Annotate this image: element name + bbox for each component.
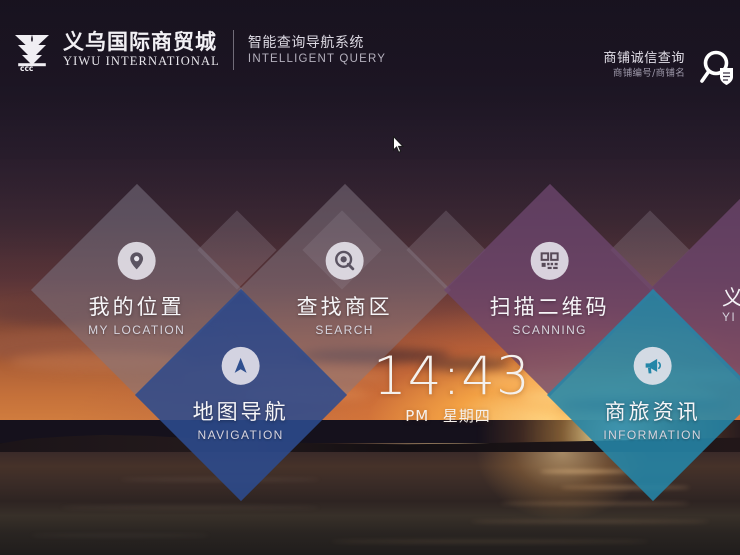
tile-label-cn: 我的位置 [89, 294, 185, 321]
diamond-menu: 我的位置 MY LOCATION 查找商区 SEARCH [0, 0, 740, 555]
tile-label-en: SCANNING [513, 321, 588, 339]
compass-arrow-icon [222, 347, 260, 385]
tile-label-cn: 查找商区 [297, 294, 393, 321]
kiosk-screen: ccc 义乌国际商贸城 YIWU INTERNATIONAL 智能查询导航系统 … [0, 0, 740, 555]
clock-meta: PM 星期四 [373, 405, 523, 427]
clock-time: 14:43 [373, 348, 523, 405]
search-icon [326, 242, 364, 280]
tile-label-cn: 商旅资讯 [605, 399, 701, 426]
tile-partial-label-en: YI [722, 310, 736, 324]
tile-partial-label-cn: 义 [722, 282, 740, 312]
tile-label-en: SEARCH [316, 321, 374, 339]
clock-weekday: 星期四 [443, 407, 491, 425]
tile-label-en: NAVIGATION [198, 426, 284, 444]
qr-code-icon [531, 242, 569, 280]
tile-label-en: MY LOCATION [89, 321, 186, 339]
tile-label-en: INFORMATION [604, 426, 703, 444]
megaphone-icon [634, 347, 672, 385]
tile-label-cn: 地图导航 [193, 399, 289, 426]
clock-widget: 14:43 PM 星期四 [373, 348, 523, 427]
mouse-cursor [393, 136, 405, 154]
tile-label-cn: 扫描二维码 [490, 294, 610, 321]
map-pin-icon [118, 242, 156, 280]
clock-meridiem: PM [405, 407, 429, 425]
